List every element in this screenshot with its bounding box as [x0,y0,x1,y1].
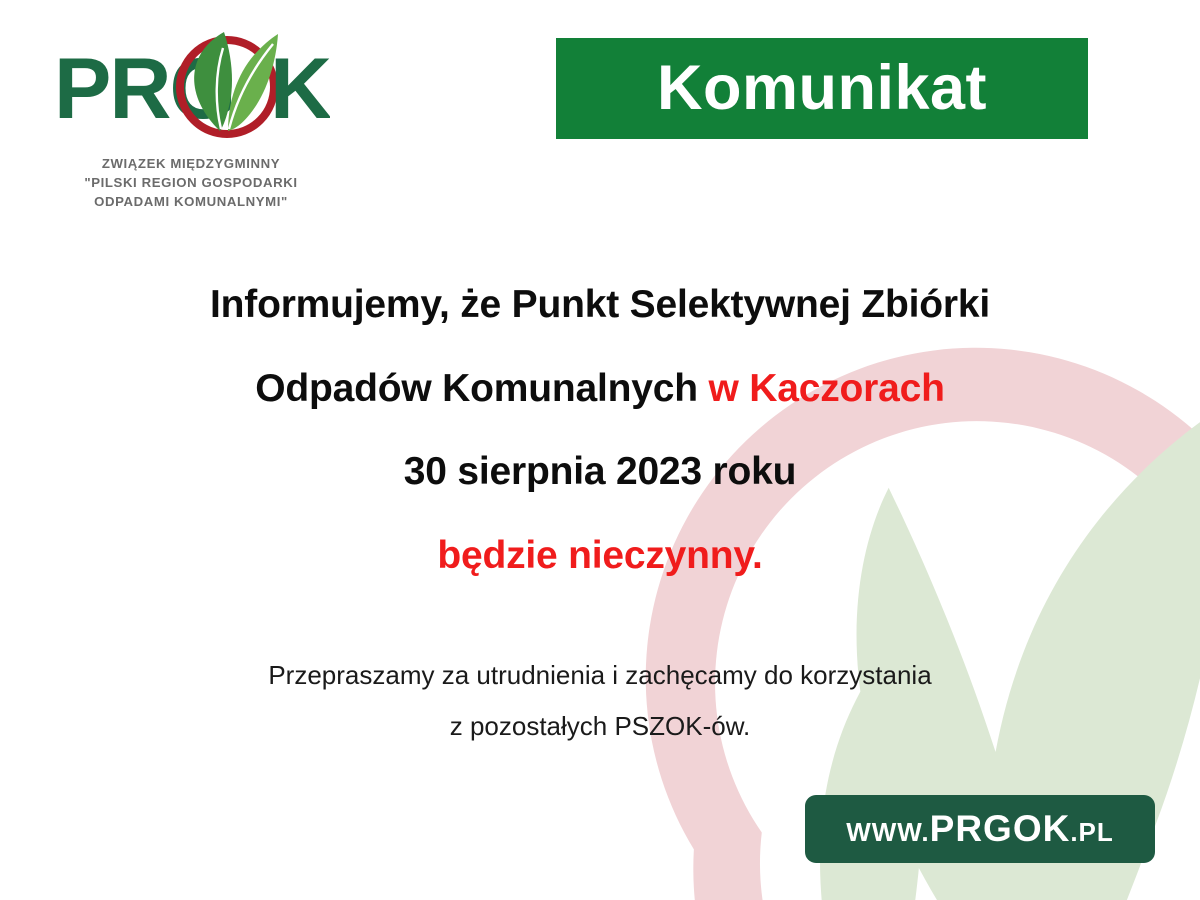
banner-title: Komunikat [657,57,987,120]
logo-subtitle-line-3: ODPADAMI KOMUNALNYMI" [52,192,330,211]
url-tld-part: .PL [1070,817,1113,847]
announcement-line-2-location: w Kaczorach [708,367,944,410]
svg-text:K: K [270,41,330,137]
announcement-body: Informujemy, że Punkt Selektywnej Zbiórk… [0,285,1200,575]
logo-subtitle-line-1: ZWIĄZEK MIĘDZYGMINNY [52,154,330,173]
apology-line-1: Przepraszamy za utrudnienia i zachęcamy … [0,650,1200,701]
prgok-logo: PRG K ZWIĄZEK M [52,30,352,211]
logo-mark: PRG K [52,30,330,142]
apology-text: Przepraszamy za utrudnienia i zachęcamy … [0,650,1200,751]
apology-line-2: z pozostałych PSZOK-ów. [0,701,1200,752]
komunikat-banner: Komunikat [556,38,1088,139]
announcement-date: 30 sierpnia 2023 roku [0,452,1200,491]
poster-canvas: PRG K ZWIĄZEK M [0,0,1200,900]
announcement-line-2-black: Odpadów Komunalnych [255,367,698,410]
website-url-text: WWW.PRGOK.PL [846,808,1114,850]
logo-wordmark-icon: PRG K [52,30,330,142]
website-url-badge[interactable]: WWW.PRGOK.PL [805,795,1155,863]
announcement-line-2: Odpadów Komunalnych w Kaczorach [0,369,1200,408]
announcement-line-1: Informujemy, że Punkt Selektywnej Zbiórk… [0,285,1200,324]
logo-subtitle: ZWIĄZEK MIĘDZYGMINNY "PILSKI REGION GOSP… [52,154,330,211]
url-www-part: WWW. [846,817,929,847]
announcement-status: będzie nieczynny. [0,536,1200,575]
logo-subtitle-line-2: "PILSKI REGION GOSPODARKI [52,173,330,192]
url-domain-part: PRGOK [930,808,1071,849]
